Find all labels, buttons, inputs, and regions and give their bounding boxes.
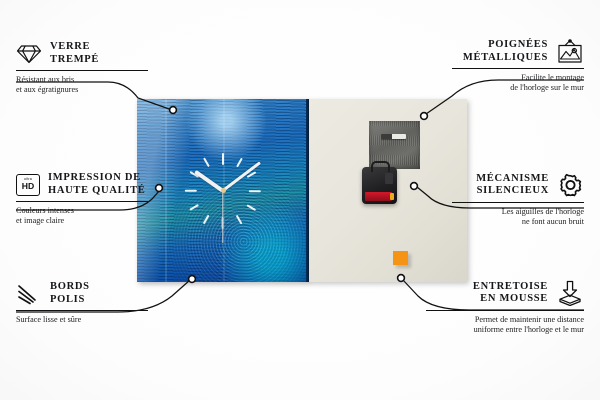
clock-face-panel (137, 99, 309, 282)
feature-header: BORDS POLIS (16, 281, 148, 306)
feature-title: MÉCANISME SILENCIEUX (476, 173, 549, 198)
feature-title: BORDS POLIS (50, 281, 90, 306)
feature-header: ENTRETOISE EN MOUSSE (426, 280, 584, 306)
feature-description: Permet de maintenir une distance uniform… (426, 315, 584, 335)
feature-description: Résistant aux bris et aux égratignures (16, 75, 148, 95)
feature-poignees-metalliques[interactable]: POIGNÉES MÉTALLIQUES Facilite le montage… (452, 39, 584, 93)
feature-entretoise-en-mousse[interactable]: ENTRETOISE EN MOUSSE Permet de maintenir… (426, 280, 584, 335)
feature-verre-trempe[interactable]: VERRE TREMPÉ Résistant aux bris et aux é… (16, 41, 148, 95)
infographic-canvas: VERRE TREMPÉ Résistant aux bris et aux é… (0, 0, 600, 400)
feature-header: POIGNÉES MÉTALLIQUES (452, 39, 584, 64)
feature-description: Facilite le montage de l'horloge sur le … (452, 73, 584, 93)
feature-header: ultra HD IMPRESSION DE HAUTE QUALITÉ (16, 172, 148, 197)
feature-bords-polis[interactable]: BORDS POLIS Surface lisse et sûre (16, 281, 148, 325)
polished-edges-icon (16, 283, 42, 305)
divider (16, 201, 148, 202)
divider (16, 70, 148, 71)
feature-header: VERRE TREMPÉ (16, 41, 148, 66)
divider (452, 202, 584, 203)
foam-spacer-arrow-icon (556, 280, 584, 306)
badge-bottom-text: HD (22, 182, 34, 191)
divider (426, 310, 584, 311)
wall-mount-frame-icon (556, 39, 584, 64)
mechanism-dial (385, 173, 393, 184)
hand-cap (221, 188, 226, 193)
feature-title: VERRE TREMPÉ (50, 41, 99, 66)
divider (16, 310, 148, 311)
feature-title: ENTRETOISE EN MOUSSE (473, 281, 548, 306)
feature-impression-haute-qualite[interactable]: ultra HD IMPRESSION DE HAUTE QUALITÉ Cou… (16, 172, 148, 226)
feature-mecanisme-silencieux[interactable]: MÉCANISME SILENCIEUX Les aiguilles de l'… (452, 172, 584, 227)
foam-spacer (393, 251, 408, 265)
feature-description: Les aiguilles de l'horloge ne font aucun… (452, 207, 584, 227)
diamond-icon (16, 43, 42, 65)
bracket-slot (381, 134, 406, 139)
clock-back-panel (309, 99, 467, 282)
clock-mechanism (362, 167, 397, 204)
feature-title: IMPRESSION DE HAUTE QUALITÉ (48, 172, 146, 197)
mechanism-hook (371, 161, 390, 172)
battery (365, 192, 392, 201)
feature-header: MÉCANISME SILENCIEUX (452, 172, 584, 198)
product-image (137, 99, 467, 282)
divider (452, 68, 584, 69)
gear-icon (557, 172, 584, 198)
ultra-hd-badge-icon: ultra HD (16, 174, 40, 196)
feature-title: POIGNÉES MÉTALLIQUES (463, 39, 548, 64)
feature-description: Couleurs intenses et image claire (16, 206, 148, 226)
feature-description: Surface lisse et sûre (16, 315, 148, 325)
